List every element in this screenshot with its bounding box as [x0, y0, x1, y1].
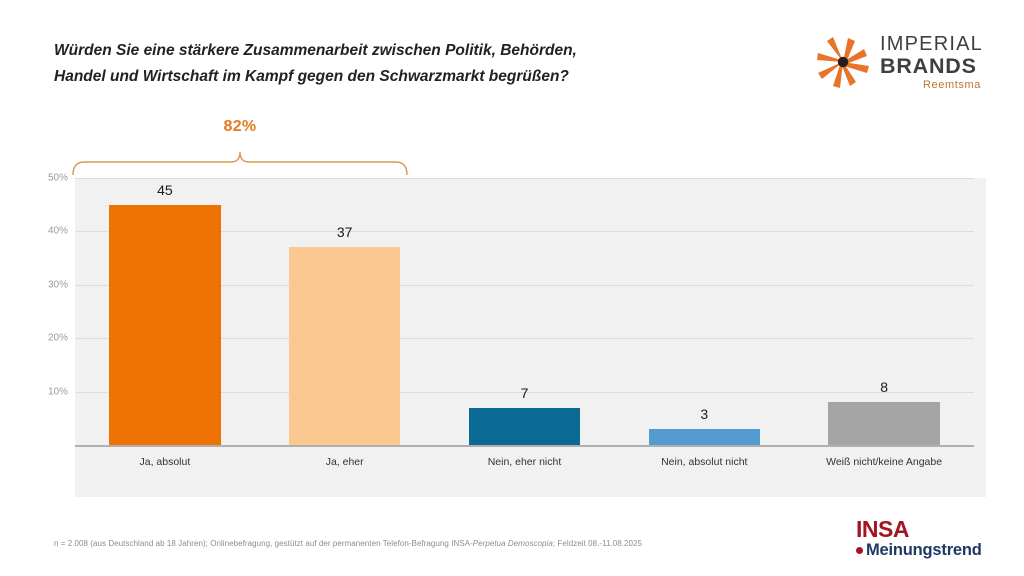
- bar-value-label: 45: [109, 182, 220, 198]
- footnote-part-1: n = 2.008 (aus Deutschland ab 18 Jahren)…: [54, 539, 473, 548]
- title-line-1: Würden Sie eine stärkere Zusammenarbeit …: [54, 38, 754, 64]
- bar[interactable]: [109, 205, 220, 445]
- insa-wordmark: INSA: [856, 518, 1006, 541]
- x-axis-category-label: Weiß nicht/keine Angabe: [800, 456, 967, 468]
- footnote-part-2: ; Feldzeit 08.-11.08.2025: [553, 539, 642, 548]
- page-title: Würden Sie eine stärkere Zusammenarbeit …: [54, 38, 754, 90]
- meinungstrend-wordmark: Meinungstrend: [856, 541, 1006, 560]
- logo-line-imperial: IMPERIAL: [880, 34, 983, 55]
- bar-chart: 10%20%30%40%50% 45Ja, absolut37Ja, eher7…: [22, 178, 986, 497]
- footnote-italic: Perpetua Demoscopia: [473, 539, 553, 548]
- x-axis-line: [75, 445, 974, 447]
- bar-group: 7Nein, eher nicht: [469, 178, 580, 445]
- insa-dot-icon: [856, 547, 863, 554]
- title-line-2: Handel und Wirtschaft im Kampf gegen den…: [54, 64, 754, 90]
- bar-value-label: 37: [289, 224, 400, 240]
- bar-value-label: 3: [649, 406, 760, 422]
- bar[interactable]: [289, 247, 400, 445]
- bar-value-label: 8: [828, 379, 939, 395]
- footnote: n = 2.008 (aus Deutschland ab 18 Jahren)…: [54, 539, 642, 548]
- y-axis-tick-label: 40%: [22, 226, 68, 237]
- x-axis-category-label: Nein, absolut nicht: [621, 456, 788, 468]
- x-axis-category-label: Nein, eher nicht: [441, 456, 608, 468]
- bracket-shape-icon: [70, 142, 410, 178]
- bracket-annotation: 82%: [70, 118, 410, 180]
- x-axis-category-label: Ja, absolut: [81, 456, 248, 468]
- bar-group: 45Ja, absolut: [109, 178, 220, 445]
- y-axis-tick-label: 10%: [22, 386, 68, 397]
- y-axis-tick-label: 50%: [22, 173, 68, 184]
- y-axis-tick-label: 20%: [22, 333, 68, 344]
- bar[interactable]: [469, 408, 580, 445]
- imperial-brands-starburst-icon: [812, 32, 874, 92]
- bar[interactable]: [649, 429, 760, 445]
- bar-group: 37Ja, eher: [289, 178, 400, 445]
- meinungstrend-label: Meinungstrend: [866, 541, 982, 560]
- insa-meinungstrend-logo: INSA Meinungstrend: [856, 518, 1006, 562]
- logo-line-brands: BRANDS: [880, 55, 983, 78]
- bracket-percent-label: 82%: [70, 118, 410, 136]
- bar-group: 8Weiß nicht/keine Angabe: [828, 178, 939, 445]
- x-axis-category-label: Ja, eher: [261, 456, 428, 468]
- bar[interactable]: [828, 402, 939, 445]
- imperial-brands-logo: IMPERIAL BRANDS Reemtsma: [812, 30, 1012, 98]
- bar-group: 3Nein, absolut nicht: [649, 178, 760, 445]
- y-axis-tick-label: 30%: [22, 279, 68, 290]
- bar-value-label: 7: [469, 385, 580, 401]
- bar-series: 45Ja, absolut37Ja, eher7Nein, eher nicht…: [75, 178, 974, 445]
- logo-line-reemtsma: Reemtsma: [880, 78, 983, 93]
- imperial-brands-wordmark: IMPERIAL BRANDS Reemtsma: [880, 34, 983, 93]
